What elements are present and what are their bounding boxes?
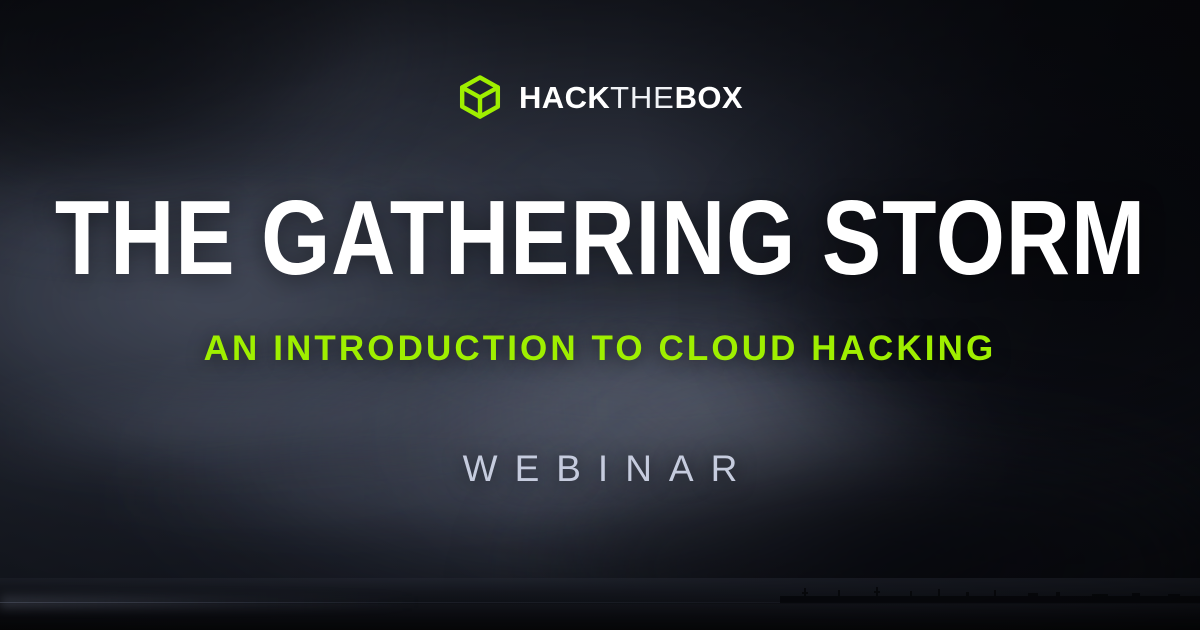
event-type-label: WEBINAR bbox=[446, 450, 755, 487]
logo-word-box: BOX bbox=[675, 82, 743, 113]
page-title: THE GATHERING STORM bbox=[54, 192, 1145, 285]
logo-word-hack: HACK bbox=[519, 82, 610, 113]
logo-wordmark: HACKTHEBOX bbox=[519, 82, 743, 113]
poster-content: HACKTHEBOX THE GATHERING STORM AN INTROD… bbox=[0, 0, 1200, 630]
htb-cube-icon bbox=[457, 74, 503, 120]
webinar-promo-banner: HACKTHEBOX THE GATHERING STORM AN INTROD… bbox=[0, 0, 1200, 630]
logo-word-the: THE bbox=[610, 82, 674, 113]
hackthebox-logo[interactable]: HACKTHEBOX bbox=[457, 74, 743, 120]
page-subtitle: AN INTRODUCTION TO CLOUD HACKING bbox=[204, 331, 997, 366]
